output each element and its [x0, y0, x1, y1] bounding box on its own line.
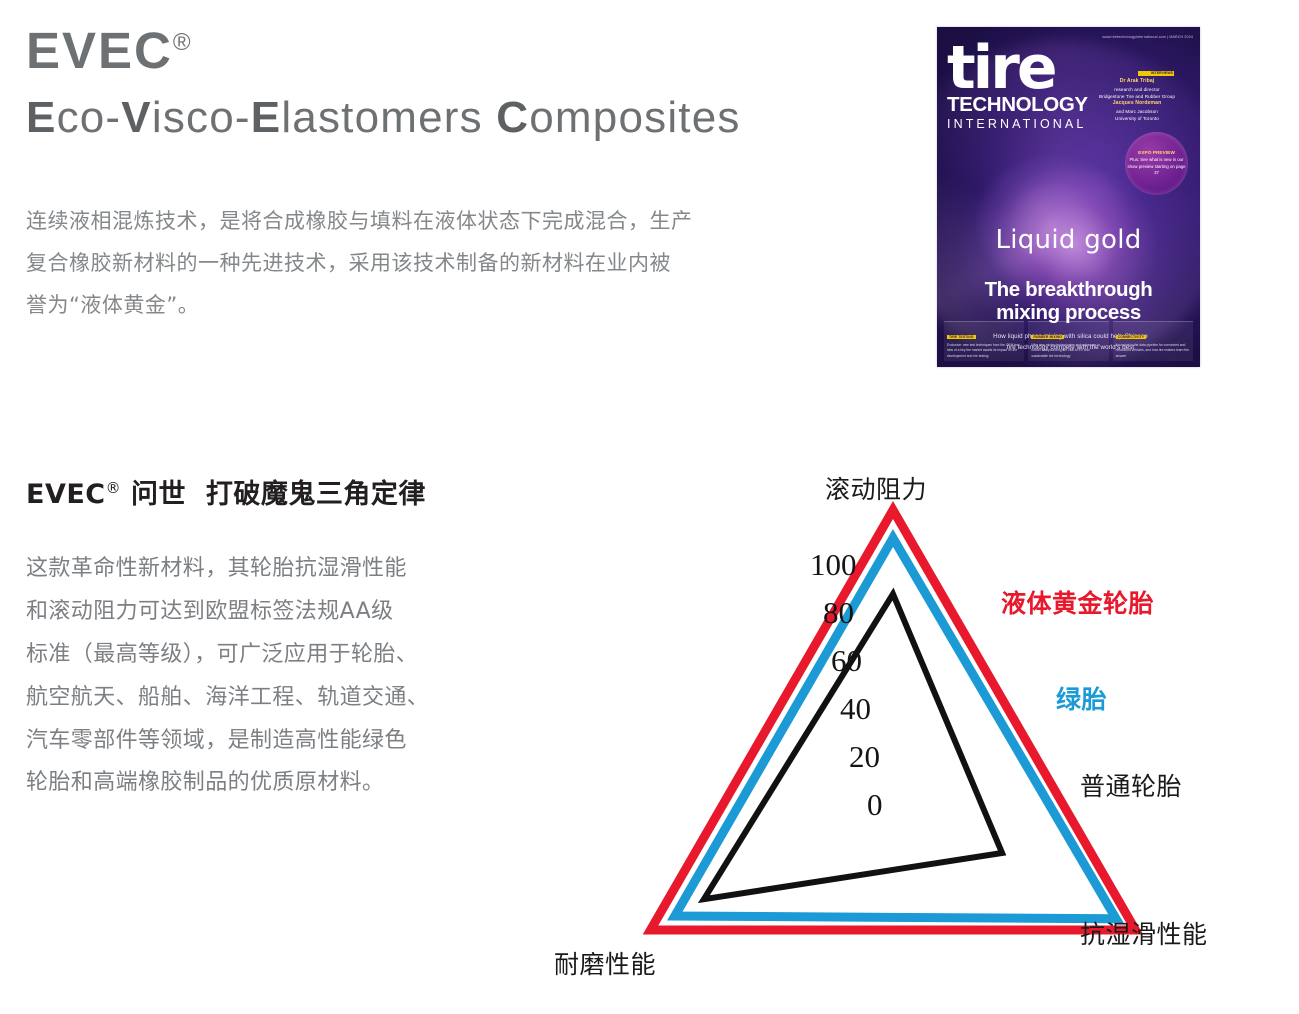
section-body-line-5: 轮胎和高端橡胶制品的优质原材料。	[26, 762, 496, 805]
intro-line-1: 连续液相混炼技术，是将合成橡胶与填料在液体状态下完成混合，生产	[26, 200, 826, 242]
registered-mark-icon: ®	[173, 29, 191, 56]
radar-legend-putong: 普通轮胎	[1080, 767, 1182, 803]
radar-tick-40: 40	[840, 691, 871, 727]
magazine-bottom-heading-0: TIRE TESTING	[947, 335, 976, 339]
tagline-part-3: isco-	[152, 93, 251, 142]
section-body-line-4: 汽车零部件等领域，是制造高性能绿色	[26, 720, 496, 763]
radar-legend-yetihuangjin: 液体黄金轮胎	[1001, 584, 1154, 620]
radar-tick-100: 100	[810, 547, 857, 583]
magazine-teaser-detail-2: and Marc Jacobson	[1082, 108, 1192, 115]
magazine-bottom-box-1: RUBBER MIXING Why new mixing technologie…	[1028, 321, 1108, 361]
intro-paragraph: 连续液相混炼技术，是将合成橡胶与填料在液体状态下完成混合，生产 复合橡胶新材料的…	[26, 200, 826, 326]
magazine-bottom-heading-2: CONNECTIVITY	[1116, 335, 1146, 339]
tagline-part-6: C	[496, 93, 529, 142]
magazine-cover: www.tiretechnologyinternational.com | MA…	[937, 27, 1200, 367]
magazine-headline-2-line1: The breakthrough	[937, 279, 1200, 302]
magazine-expo-circle: EXPO PREVIEW Plus: See what is new in ou…	[1125, 132, 1188, 195]
brand-tagline: Eco-Visco-Elastomers Composites	[26, 94, 926, 142]
brand-title: EVEC®	[26, 24, 926, 78]
radar-tick-0: 0	[867, 787, 883, 823]
magazine-teaser-name-2: Jacques Nordeman	[1082, 100, 1192, 108]
magazine-headline-2: The breakthrough mixing process	[937, 279, 1200, 325]
magazine-headline-1: Liquid gold	[937, 225, 1200, 255]
magazine-teaser-detail-3: University of Toronto	[1082, 115, 1192, 122]
tagline-part-7: omposites	[529, 93, 740, 142]
magazine-title-sub: TECHNOLOGY	[947, 95, 1088, 116]
radar-tick-60: 60	[831, 643, 862, 679]
magazine-circle-headline: EXPO PREVIEW	[1138, 150, 1175, 157]
radar-tick-20: 20	[849, 739, 880, 775]
section-title-brand: EVEC	[26, 479, 106, 510]
tagline-part-4: E	[251, 93, 282, 142]
section-body: 这款革命性新材料，其轮胎抗湿滑性能 和滚动阻力可达到欧盟标签法规AA级 标准（最…	[26, 548, 496, 805]
radar-legend-lvtai: 绿胎	[1056, 680, 1107, 716]
magazine-masthead: tire TECHNOLOGY INTERNATIONAL	[947, 44, 1088, 130]
magazine-bottom-body-2: Just what is the data pipeline for conne…	[1116, 343, 1190, 359]
tagline-part-1: co-	[57, 93, 122, 142]
magazine-badge-label: INTERVIEWS	[1151, 71, 1173, 75]
intro-line-3: 誉为“液体黄金”。	[26, 284, 826, 326]
magazine-bottom-box-0: TIRE TESTING Exclusive: new test techniq…	[944, 321, 1024, 361]
brand-block: EVEC® Eco-Visco-Elastomers Composites	[26, 24, 926, 142]
magazine-teaser-detail-0: research and director	[1082, 86, 1192, 93]
magazine-bottom-teasers: TIRE TESTING Exclusive: new test techniq…	[937, 321, 1200, 361]
radar-axis-label-wear-resistance: 耐磨性能	[554, 945, 656, 981]
poster-page: EVEC® Eco-Visco-Elastomers Composites 连续…	[0, 0, 1299, 1014]
magazine-bottom-body-0: Exclusive: new test techniques from the …	[947, 343, 1021, 359]
radar-axis-label-wet-grip: 抗湿滑性能	[1080, 915, 1208, 951]
magazine-bottom-box-2: CONNECTIVITY Just what is the data pipel…	[1113, 321, 1193, 361]
brand-name: EVEC	[26, 22, 173, 79]
tagline-part-5: lastomers	[281, 93, 496, 142]
tagline-part-2: V	[121, 93, 152, 142]
section-body-line-0: 这款革命性新材料，其轮胎抗湿滑性能	[26, 548, 496, 591]
radar-chart: 滚动阻力 抗湿滑性能 耐磨性能 100 80 60 40 20 0 液体黄金轮胎…	[520, 455, 1280, 1010]
section-title: EVEC® 问世 打破魔鬼三角定律	[26, 472, 426, 511]
tagline-part-0: E	[26, 93, 57, 142]
section-body-line-2: 标准（最高等级），可广泛应用于轮胎、	[26, 634, 496, 677]
magazine-top-url: www.tiretechnologyinternational.com | MA…	[1102, 35, 1193, 39]
magazine-teaser-list: Dr Arak Tribaj research and director Bri…	[1082, 78, 1192, 122]
intro-line-2: 复合橡胶新材料的一种先进技术，采用该技术制备的新材料在业内被	[26, 242, 826, 284]
section-title-rest: 问世 打破魔鬼三角定律	[131, 479, 426, 510]
section-body-line-1: 和滚动阻力可达到欧盟标签法规AA级	[26, 591, 496, 634]
section-registered-mark-icon: ®	[106, 479, 122, 497]
radar-axis-label-rolling-resistance: 滚动阻力	[825, 470, 927, 506]
magazine-bottom-body-1: Why new mixing technologies and advances…	[1031, 343, 1105, 359]
magazine-title-sub2: INTERNATIONAL	[947, 118, 1088, 131]
section-body-line-3: 航空航天、船舶、海洋工程、轨道交通、	[26, 677, 496, 720]
magazine-title-main: tire	[947, 44, 1088, 93]
radar-tick-80: 80	[823, 595, 854, 631]
magazine-circle-text: Plus: See what is new in our show previe…	[1125, 157, 1188, 176]
magazine-teaser-detail-1: Bridgestone Tire and Rubber Group	[1082, 93, 1192, 100]
magazine-bottom-heading-1: RUBBER MIXING	[1031, 335, 1064, 339]
magazine-teaser-name-0: Dr Arak Tribaj	[1082, 78, 1192, 86]
